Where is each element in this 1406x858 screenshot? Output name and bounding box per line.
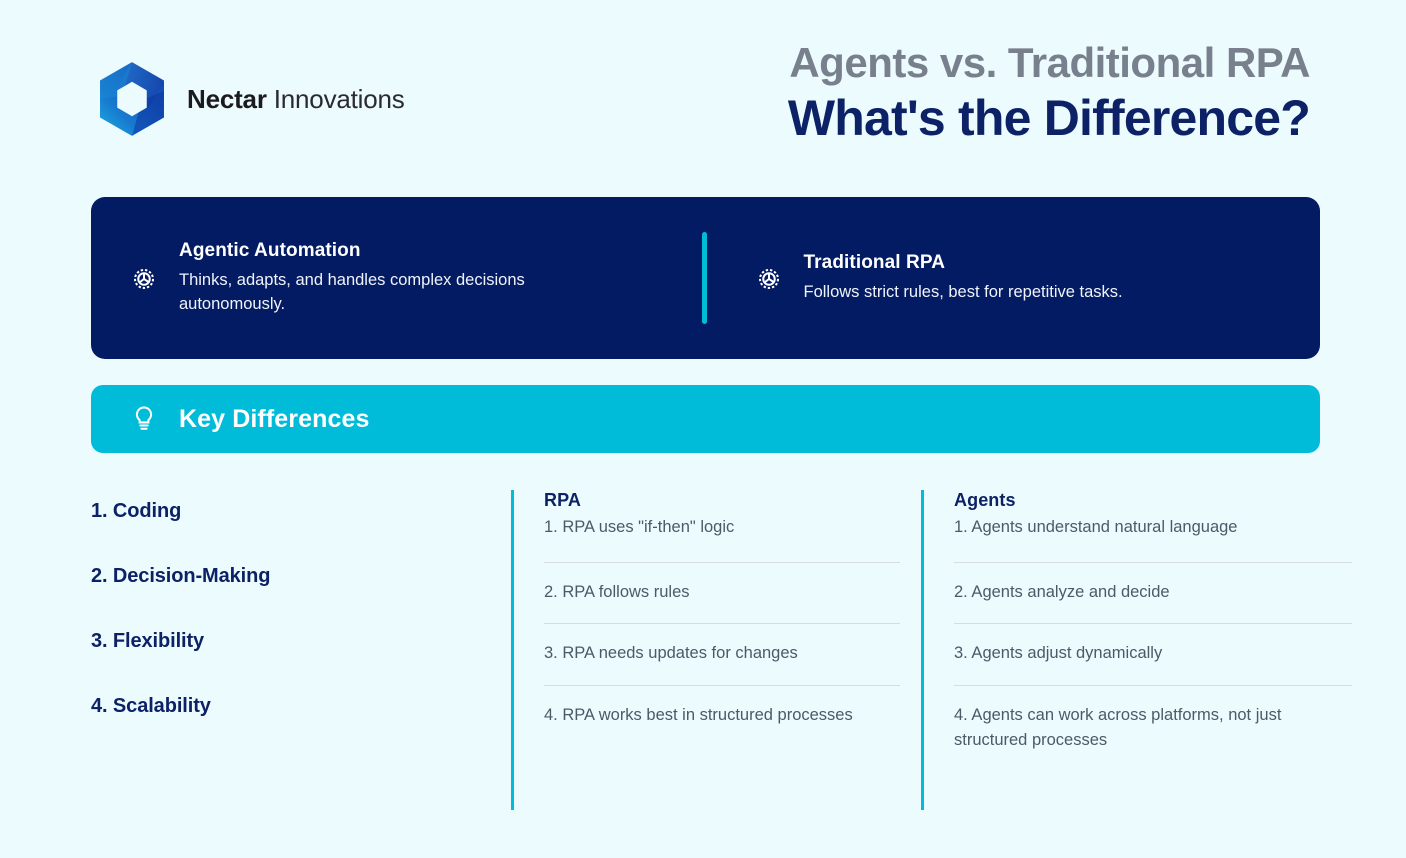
key-differences-label: Key Differences — [179, 405, 369, 434]
rpa-list-item: 4. RPA works best in structured processe… — [544, 703, 900, 729]
rpa-list-item: 1. RPA uses "if-then" logic — [544, 515, 900, 563]
title-block: Agents vs. Traditional RPA What's the Di… — [788, 40, 1310, 146]
brand-wordmark: Nectar Innovations — [187, 86, 405, 112]
panel-card-description: Thinks, adapts, and handles complex deci… — [179, 269, 574, 317]
agents-column: Agents 1. Agents understand natural lang… — [921, 490, 1352, 810]
page-title: What's the Difference? — [788, 91, 1310, 146]
rpa-list-item: 3. RPA needs updates for changes — [544, 641, 900, 686]
panel-card-agentic-automation: Agentic Automation Thinks, adapts, and h… — [91, 197, 696, 359]
rpa-column: RPA 1. RPA uses "if-then" logic 2. RPA f… — [511, 490, 900, 810]
hexagon-ring-logo-icon — [91, 58, 173, 140]
comparison-panel: Agentic Automation Thinks, adapts, and h… — [91, 197, 1320, 359]
panel-card-traditional-rpa: Traditional RPA Follows strict rules, be… — [696, 197, 1321, 359]
brand-name-light: Innovations — [274, 84, 405, 114]
key-differences-bar: Key Differences — [91, 385, 1320, 453]
panel-card-description: Follows strict rules, best for repetitiv… — [804, 281, 1123, 305]
lightbulb-icon — [131, 404, 157, 434]
gear-icon — [754, 264, 784, 294]
rpa-list-item: 2. RPA follows rules — [544, 580, 900, 625]
agents-list-item: 1. Agents understand natural language — [954, 515, 1352, 563]
topic-item: 4. Scalability — [91, 696, 511, 761]
topic-item: 3. Flexibility — [91, 631, 511, 696]
gear-icon — [129, 264, 159, 294]
topics-column: 1. Coding 2. Decision-Making 3. Flexibil… — [91, 490, 511, 810]
eyebrow-title: Agents vs. Traditional RPA — [788, 40, 1310, 85]
rpa-column-heading: RPA — [544, 490, 900, 511]
panel-card-title: Traditional RPA — [804, 252, 1123, 274]
agents-column-heading: Agents — [954, 490, 1352, 511]
agents-list-item: 2. Agents analyze and decide — [954, 580, 1352, 625]
brand-lockup: Nectar Innovations — [91, 58, 405, 140]
comparison-body: 1. Coding 2. Decision-Making 3. Flexibil… — [91, 490, 1331, 810]
page-header: Nectar Innovations Agents vs. Traditiona… — [0, 0, 1406, 180]
topic-item: 2. Decision-Making — [91, 566, 511, 631]
agents-list-item: 3. Agents adjust dynamically — [954, 641, 1352, 686]
topic-item: 1. Coding — [91, 501, 511, 566]
brand-name-bold: Nectar — [187, 84, 267, 114]
agents-list-item: 4. Agents can work across platforms, not… — [954, 703, 1352, 754]
panel-card-title: Agentic Automation — [179, 240, 574, 262]
